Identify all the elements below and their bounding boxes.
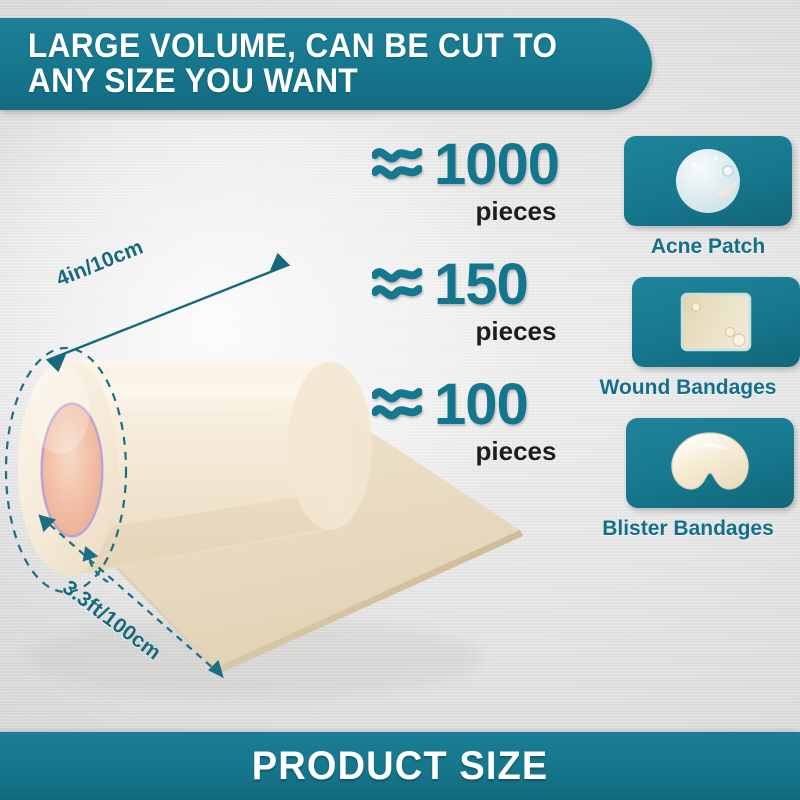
quantity-value: 150 [434, 256, 528, 314]
product-card-blister-bandages: Blister Bandages [604, 418, 800, 541]
approx-wave-icon [372, 143, 422, 188]
product-card-acne-patch: Acne Patch [604, 136, 800, 259]
wound-bandage-icon [666, 282, 766, 362]
quantity-unit: pieces [372, 196, 602, 227]
quantity-unit: pieces [372, 316, 602, 347]
product-card-tile [632, 277, 800, 367]
quantity-unit: pieces [372, 436, 602, 467]
quantity-item-100: 100 pieces [372, 372, 602, 492]
product-card-list: Acne Patch Wou [604, 136, 800, 559]
product-card-tile [624, 136, 792, 226]
quantity-list: 1000 pieces 150 pieces [372, 132, 602, 492]
quantity-item-150: 150 pieces [372, 252, 602, 372]
header-banner: LARGE VOLUME, CAN BE CUT TO ANY SIZE YOU… [0, 18, 652, 110]
product-card-tile [626, 418, 794, 508]
footer-title: PRODUCT SIZE [252, 744, 549, 789]
footer-banner: PRODUCT SIZE [0, 732, 800, 800]
quantity-item-1000: 1000 pieces [372, 132, 602, 252]
infographic-page: LARGE VOLUME, CAN BE CUT TO ANY SIZE YOU… [0, 0, 800, 800]
acne-patch-icon [660, 141, 756, 221]
approx-wave-icon [372, 263, 422, 308]
product-card-label: Blister Bandages [582, 517, 794, 541]
approx-wave-icon [372, 383, 422, 428]
product-card-label: Acne Patch [624, 235, 792, 259]
quantity-value: 100 [434, 376, 528, 434]
quantity-value: 1000 [434, 136, 559, 194]
product-card-wound-bandages: Wound Bandages [604, 277, 800, 400]
product-card-label: Wound Bandages [586, 376, 790, 400]
blister-bandage-icon [658, 425, 762, 501]
header-title: LARGE VOLUME, CAN BE CUT TO ANY SIZE YOU… [0, 29, 596, 99]
